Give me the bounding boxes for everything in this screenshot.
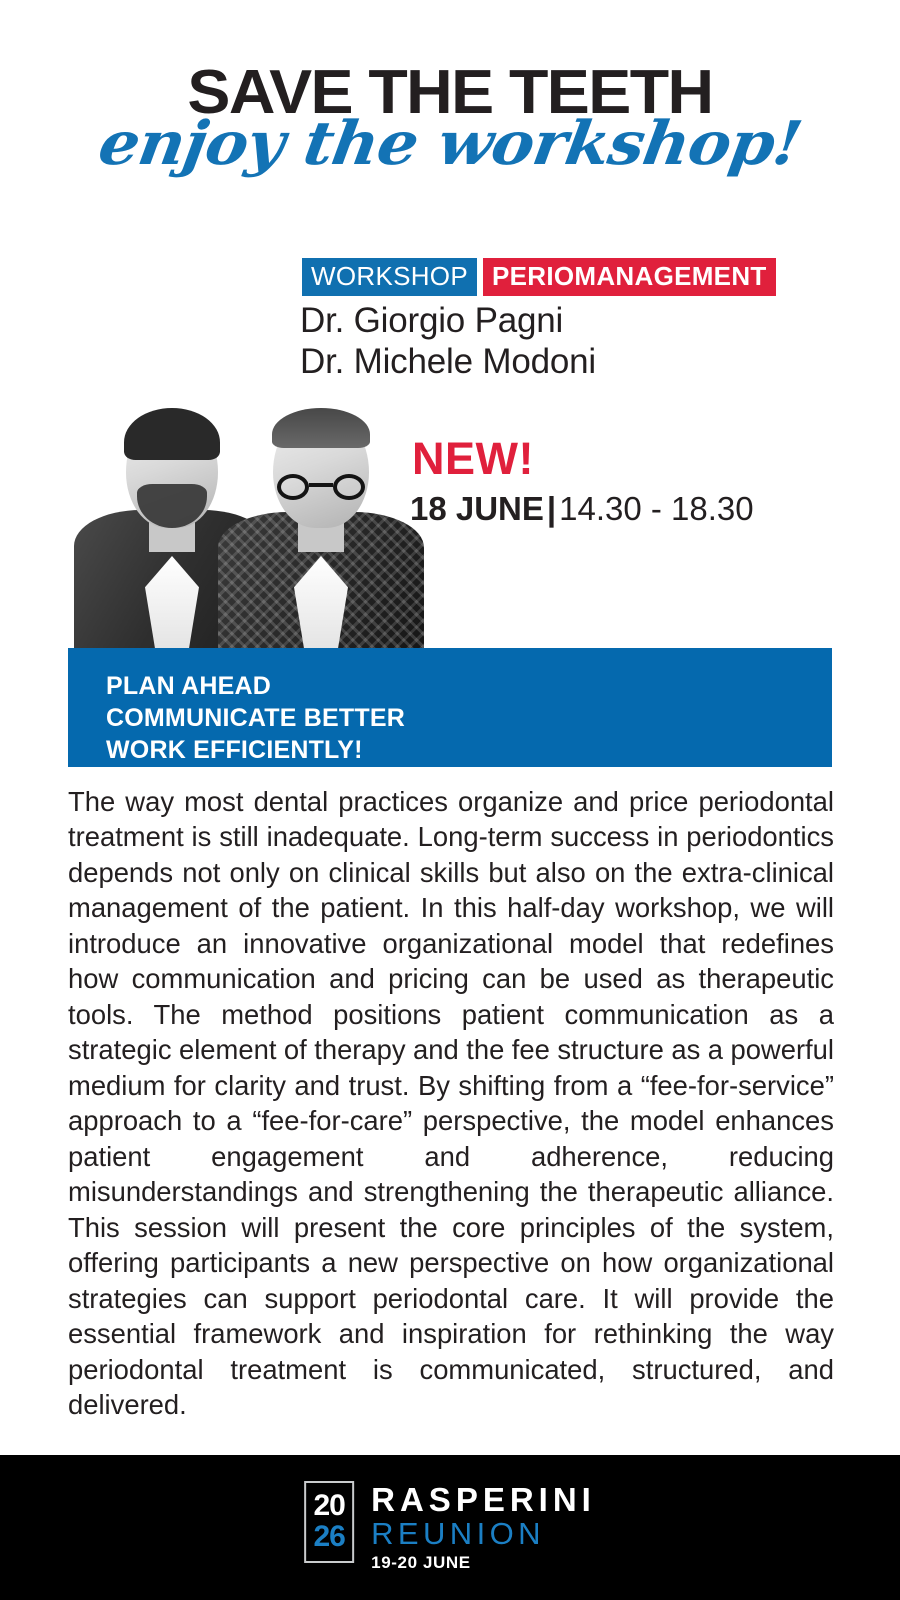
hair-shape: [124, 408, 220, 460]
brand-name: RASPERINI: [371, 1483, 596, 1517]
badge-periomanagement: PERIOMANAGEMENT: [483, 258, 776, 296]
speaker-names: Dr. Giorgio Pagni Dr. Michele Modoni: [300, 300, 596, 383]
event-dates: 19-20 JUNE: [371, 1553, 596, 1573]
lens-left: [277, 474, 309, 500]
banner-line-2: COMMUNICATE BETTER: [106, 702, 405, 734]
speaker-name-1: Dr. Giorgio Pagni: [300, 300, 596, 341]
schedule-date: 18 JUNE: [410, 490, 544, 527]
badge-workshop: WORKSHOP: [302, 258, 477, 296]
brand-subtitle: REUNION: [371, 1518, 596, 1551]
banner-line-1: PLAN AHEAD: [106, 670, 405, 702]
speaker-photo-michele-modoni: [216, 392, 426, 660]
new-badge-label: NEW!: [412, 436, 534, 481]
lens-right: [333, 474, 365, 500]
speaker-name-2: Dr. Michele Modoni: [300, 341, 596, 382]
year-bottom: 26: [313, 1522, 344, 1553]
headline-script-text: enjoy the workshop!: [0, 114, 900, 174]
headline-block: SAVE THE TEETH enjoy the workshop!: [0, 62, 900, 212]
key-benefits-banner: PLAN AHEAD COMMUNICATE BETTER WORK EFFIC…: [68, 648, 832, 767]
schedule-time: 14.30 - 18.30: [559, 490, 754, 527]
speakers-photo: [68, 382, 446, 660]
hair-shape: [272, 408, 370, 448]
eyeglasses-icon: [275, 474, 367, 500]
banner-line-3: WORK EFFICIENTLY!: [106, 734, 405, 766]
rasperini-reunion-logo: 20 26 RASPERINI REUNION 19-20 JUNE: [304, 1481, 596, 1573]
brand-text-column: RASPERINI REUNION 19-20 JUNE: [371, 1481, 596, 1573]
badge-row: WORKSHOP PERIOMANAGEMENT: [302, 258, 776, 296]
workshop-description: The way most dental practices organize a…: [68, 784, 834, 1423]
schedule-separator: |: [544, 490, 559, 527]
year-box: 20 26: [304, 1481, 354, 1563]
banner-text-block: PLAN AHEAD COMMUNICATE BETTER WORK EFFIC…: [106, 670, 405, 766]
glasses-bridge: [309, 483, 333, 487]
schedule-date-time: 18 JUNE|14.30 - 18.30: [410, 492, 754, 525]
footer-bar: 20 26 RASPERINI REUNION 19-20 JUNE: [0, 1455, 900, 1600]
year-top: 20: [313, 1491, 344, 1522]
